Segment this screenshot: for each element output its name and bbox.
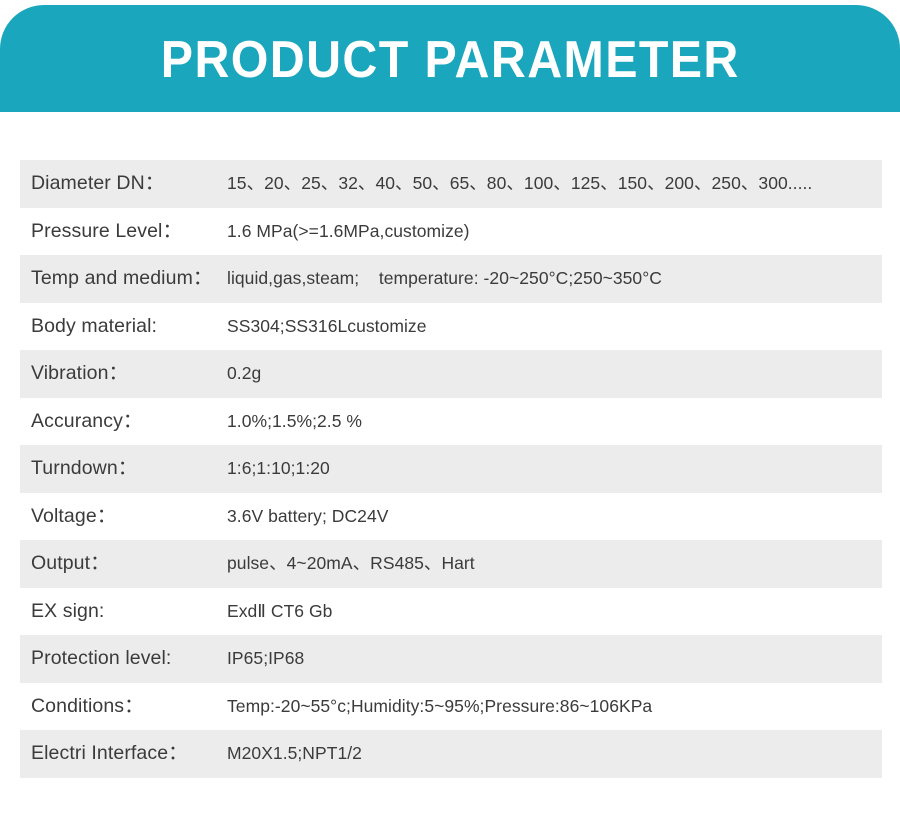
table-row: Vibration：0.2g [20,350,882,398]
spec-value: M20X1.5;NPT1/2 [225,743,882,764]
spec-value: Temp:-20~55°c;Humidity:5~95%;Pressure:86… [225,696,882,717]
spec-label: Temp and medium： [31,267,225,290]
spec-value: liquid,gas,steam; temperature: -20~250°C… [225,268,882,289]
spec-label: EX sign: [31,600,225,623]
table-row: Voltage：3.6V battery; DC24V [20,493,882,541]
table-row: Body material:SS304;SS316Lcustomize [20,303,882,351]
spec-label: Vibration： [31,362,225,385]
table-row: Temp and medium：liquid,gas,steam; temper… [20,255,882,303]
spec-label: Turndown： [31,457,225,480]
table-row: Electri Interface：M20X1.5;NPT1/2 [20,730,882,778]
table-row: Pressure Level：1.6 MPa(>=1.6MPa,customiz… [20,208,882,256]
spec-value: IP65;IP68 [225,648,882,669]
spec-label: Pressure Level： [31,220,225,243]
table-row: Protection level:IP65;IP68 [20,635,882,683]
spec-value: pulse、4~20mA、RS485、Hart [225,553,882,574]
spec-value: 1.0%;1.5%;2.5 % [225,411,882,432]
spec-value: 3.6V battery; DC24V [225,506,882,527]
spec-label: Electri Interface： [31,742,225,765]
spec-label: Protection level: [31,647,225,670]
spec-label: Voltage： [31,505,225,528]
page-title: PRODUCT PARAMETER [161,34,740,86]
table-row: Turndown：1:6;1:10;1:20 [20,445,882,493]
spec-value: 1.6 MPa(>=1.6MPa,customize) [225,221,882,242]
spec-value: 15、20、25、32、40、50、65、80、100、125、150、200、… [225,173,882,194]
spec-value: ExdⅡ CT6 Gb [225,601,882,622]
spec-value: 1:6;1:10;1:20 [225,458,882,479]
product-parameter-page: PRODUCT PARAMETER Diameter DN：15、20、25、3… [0,0,900,821]
spec-value: SS304;SS316Lcustomize [225,316,882,337]
spec-label: Diameter DN： [31,172,225,195]
spec-label: Output： [31,552,225,575]
table-row: Conditions：Temp:-20~55°c;Humidity:5~95%;… [20,683,882,731]
table-row: EX sign:ExdⅡ CT6 Gb [20,588,882,636]
header-banner: PRODUCT PARAMETER [0,5,900,112]
table-row: Diameter DN：15、20、25、32、40、50、65、80、100、… [20,160,882,208]
spec-label: Conditions： [31,695,225,718]
spec-value: 0.2g [225,363,882,384]
spec-label: Body material: [31,315,225,338]
specification-table: Diameter DN：15、20、25、32、40、50、65、80、100、… [20,160,882,778]
spec-label: Accurancy： [31,410,225,433]
table-row: Accurancy：1.0%;1.5%;2.5 % [20,398,882,446]
table-row: Output：pulse、4~20mA、RS485、Hart [20,540,882,588]
